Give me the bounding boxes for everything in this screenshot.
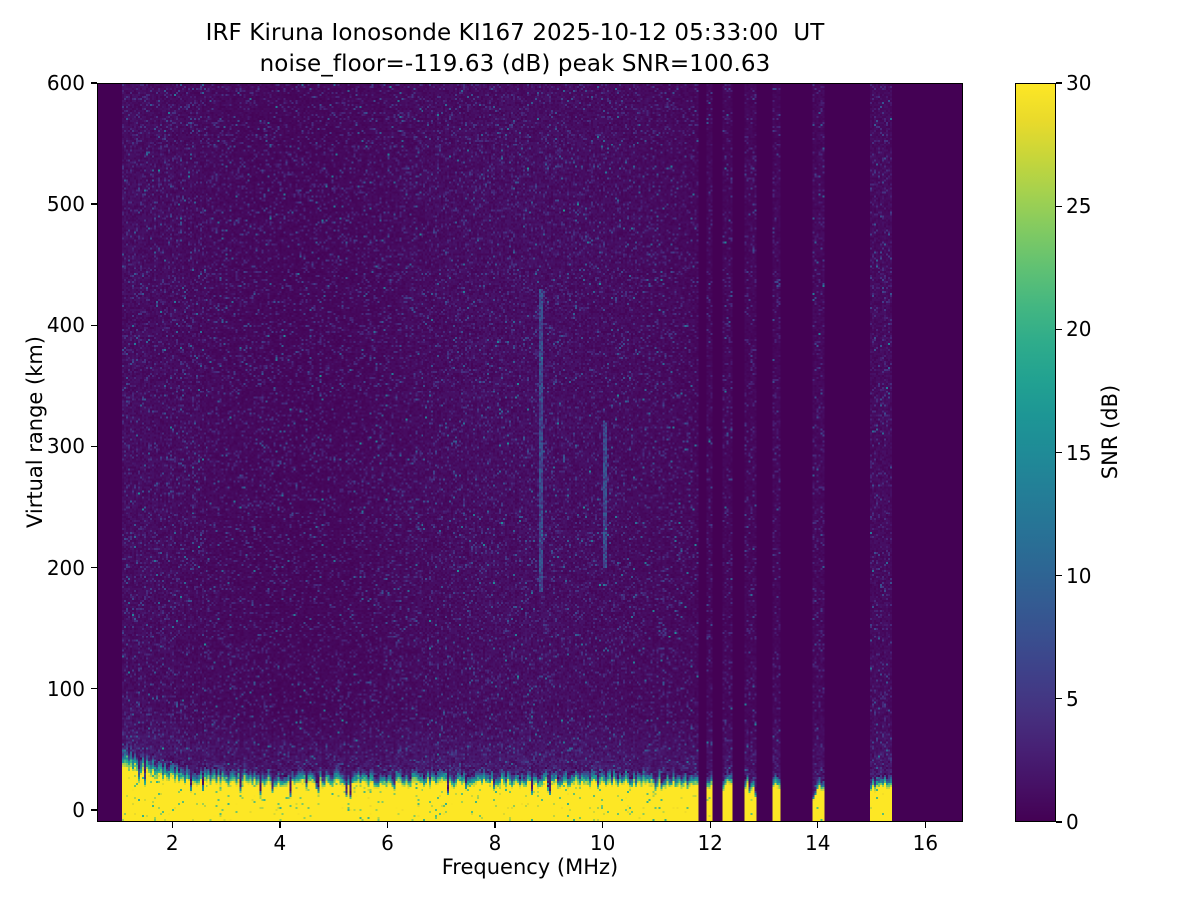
x-tick-mark [494,822,495,828]
colorbar-label: SNR (dB) [1098,222,1122,642]
y-tick-label: 100 [47,679,85,699]
y-tick-mark [91,325,97,326]
x-tick-mark [817,822,818,828]
colorbar[interactable] [1015,83,1056,822]
y-tick-label: 300 [47,436,85,456]
x-tick-label: 14 [788,832,848,854]
x-tick-mark [279,822,280,828]
x-tick-mark [925,822,926,828]
colorbar-tick-label: 30 [1066,73,1091,93]
y-tick-mark [91,446,97,447]
x-tick-label: 16 [895,832,955,854]
colorbar-tick-label: 5 [1066,689,1079,709]
colorbar-tick-mark [1056,575,1062,576]
page-title: IRF Kiruna Ionosonde KI167 2025-10-12 05… [0,18,1030,80]
colorbar-tick-label: 10 [1066,566,1091,586]
ionogram-heatmap [98,84,962,821]
x-tick-label: 8 [465,832,525,854]
y-tick-mark [91,688,97,689]
colorbar-tick-mark [1056,82,1062,83]
x-tick-label: 2 [142,832,202,854]
colorbar-tick-mark [1056,452,1062,453]
y-tick-label: 500 [47,194,85,214]
y-tick-label: 0 [72,800,85,820]
y-tick-mark [91,82,97,83]
ionogram-plot-area[interactable] [97,83,963,822]
x-tick-label: 4 [250,832,310,854]
x-tick-label: 10 [573,832,633,854]
x-tick-mark [172,822,173,828]
x-tick-label: 6 [357,832,417,854]
colorbar-tick-label: 20 [1066,319,1091,339]
colorbar-tick-label: 15 [1066,443,1091,463]
title-line-1: IRF Kiruna Ionosonde KI167 2025-10-12 05… [0,18,1030,49]
x-tick-label: 12 [680,832,740,854]
y-tick-label: 400 [47,315,85,335]
colorbar-tick-mark [1056,698,1062,699]
y-tick-label: 200 [47,558,85,578]
colorbar-tick-mark [1056,206,1062,207]
x-axis-label: Frequency (MHz) [97,855,963,879]
x-tick-mark [602,822,603,828]
y-tick-label: 600 [47,73,85,93]
ionogram-figure: IRF Kiruna Ionosonde KI167 2025-10-12 05… [0,0,1200,900]
colorbar-tick-label: 0 [1066,812,1079,832]
colorbar-tick-label: 25 [1066,196,1091,216]
x-tick-mark [710,822,711,828]
title-line-2: noise_floor=-119.63 (dB) peak SNR=100.63 [0,49,1030,80]
y-tick-mark [91,809,97,810]
colorbar-tick-mark [1056,329,1062,330]
y-axis-label: Virtual range (km) [23,192,47,672]
y-tick-mark [91,567,97,568]
x-tick-mark [387,822,388,828]
y-tick-mark [91,203,97,204]
colorbar-tick-mark [1056,821,1062,822]
colorbar-gradient [1016,84,1055,821]
